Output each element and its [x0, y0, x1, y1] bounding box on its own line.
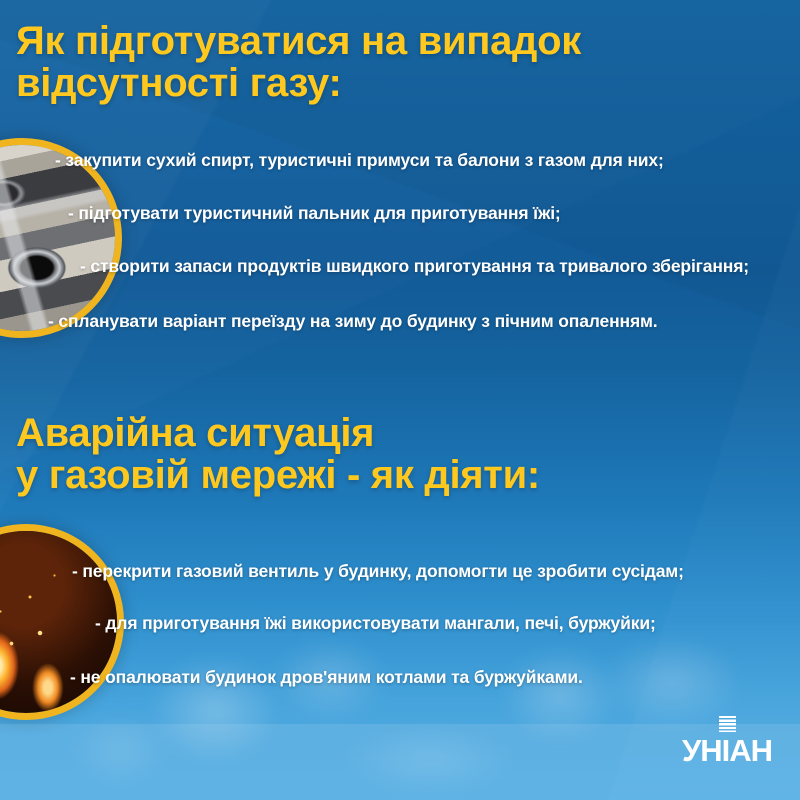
section-2-heading: Аварійна ситуація у газовій мережі - як … — [16, 412, 736, 497]
list-item: - створити запаси продуктів швидкого при… — [80, 256, 749, 277]
list-item: - спланувати варіант переїзду на зиму до… — [48, 311, 658, 332]
infographic-canvas: Як підготуватися на випадок відсутності … — [0, 0, 800, 800]
striped-square-icon — [719, 716, 736, 732]
section-1-heading: Як підготуватися на випадок відсутності … — [16, 20, 736, 105]
list-item: - підготувати туристичний пальник для пр… — [68, 203, 561, 224]
gas-stove-image — [0, 145, 115, 331]
list-item: - для приготування їжі використовувати м… — [95, 613, 656, 634]
list-item: - перекрити газовий вентиль у будинку, д… — [72, 561, 684, 582]
list-item: - не опалювати будинок дров'яним котлами… — [70, 667, 583, 688]
list-item: - закупити сухий спирт, туристичні приму… — [55, 150, 664, 171]
unian-logo: УНІАН — [682, 716, 772, 766]
unian-logo-text: УНІАН — [682, 735, 772, 766]
